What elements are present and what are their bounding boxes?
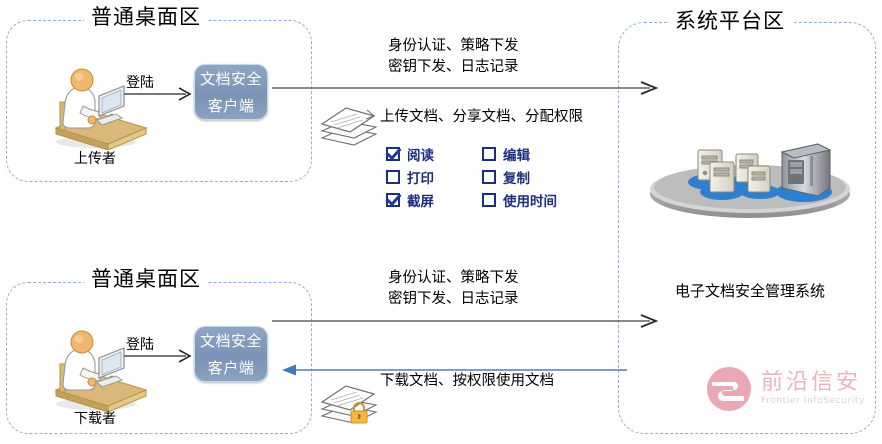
flow-caption-upload: 上传文档、分享文档、分配权限 [380,107,583,128]
permission-label-print: 打印 [407,167,434,187]
client-box-top-line2: 客户端 [195,93,267,120]
brand-tagline: Frontier InfoSecurity [761,395,865,408]
diagram-canvas: 普通桌面区 普通桌面区 系统平台区 上传者 文档安全 客户端 登陆 身份认证、策… [0,0,882,444]
permission-item-read[interactable]: 阅读 [386,144,482,164]
permission-label-copy: 复制 [503,167,530,187]
server-cluster-icon [648,130,852,220]
actor-label-uploader: 上传者 [40,148,150,168]
permission-checkbox-grid: 阅读 编辑 打印 复制 截屏 使用时间 [386,142,586,211]
zone-title-desktop-bottom: 普通桌面区 [84,266,208,292]
document-stack-icon-upload [318,100,380,148]
flow-caption-auth-top: 身份认证、策略下发 密钥下发、日志记录 [388,36,519,78]
flow-arrow-auth-top [272,81,662,95]
permission-row: 阅读 编辑 [386,142,586,165]
permission-row: 打印 复制 [386,165,586,188]
brand-name: 前沿信安 [761,371,865,395]
checkbox-unchecked-icon-usage-time[interactable] [482,193,496,207]
zone-title-desktop-top: 普通桌面区 [84,4,208,30]
login-arrow-top-icon [124,87,194,101]
checkbox-unchecked-icon-copy[interactable] [482,170,496,184]
permission-item-copy[interactable]: 复制 [482,167,578,187]
flow-caption-auth-bottom: 身份认证、策略下发 密钥下发、日志记录 [388,268,519,310]
permission-label-edit: 编辑 [503,144,530,164]
permission-item-usage-time[interactable]: 使用时间 [482,190,578,210]
zone-title-system-platform: 系统平台区 [668,8,792,34]
flow-caption-auth-top-line2: 密钥下发、日志记录 [388,57,519,78]
flow-caption-auth-bottom-line2: 密钥下发、日志记录 [388,289,519,310]
permission-label-screenshot: 截屏 [407,190,434,210]
client-box-bottom-line1: 文档安全 [195,328,267,355]
checkbox-unchecked-icon-print[interactable] [386,170,400,184]
permission-row: 截屏 使用时间 [386,188,586,211]
client-box-top[interactable]: 文档安全 客户端 [194,64,268,120]
brand-text-block: 前沿信安 Frontier InfoSecurity [761,371,865,408]
actor-label-downloader: 下载者 [40,408,150,428]
permission-item-print[interactable]: 打印 [386,167,482,187]
system-name-label: 电子文档安全管理系统 [640,280,860,301]
permission-item-screenshot[interactable]: 截屏 [386,190,482,210]
permission-label-read: 阅读 [407,144,434,164]
client-box-bottom-line2: 客户端 [195,355,267,382]
flow-caption-auth-top-line1: 身份认证、策略下发 [388,36,519,57]
frontier-logo-icon [706,366,752,412]
permission-item-edit[interactable]: 编辑 [482,144,578,164]
document-stack-locked-icon-download [318,378,380,426]
client-box-bottom[interactable]: 文档安全 客户端 [194,326,268,382]
brand-logo: 前沿信安 Frontier InfoSecurity [706,366,865,412]
checkbox-checked-icon-read[interactable] [386,147,400,161]
checkbox-checked-icon-screenshot[interactable] [386,193,400,207]
permission-label-usage-time: 使用时间 [503,190,557,210]
flow-arrow-auth-bottom [272,314,662,328]
login-arrow-bottom-icon [124,349,194,363]
flow-caption-download: 下载文档、按权限使用文档 [380,371,554,392]
flow-caption-auth-bottom-line1: 身份认证、策略下发 [388,268,519,289]
client-box-top-line1: 文档安全 [195,66,267,93]
checkbox-unchecked-icon-edit[interactable] [482,147,496,161]
